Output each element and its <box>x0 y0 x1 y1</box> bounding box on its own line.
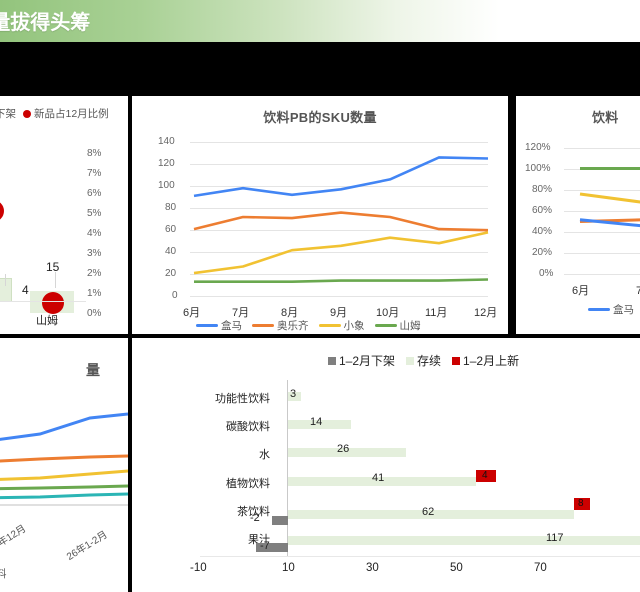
ytick-1pct: 1% <box>87 288 101 299</box>
ytick-4pct: 4% <box>87 228 101 239</box>
value-label-4: 4 <box>22 283 29 297</box>
series-1-line <box>0 414 128 442</box>
xtick-50: 50 <box>450 562 463 574</box>
green-bar-xiaoxiang <box>0 278 12 302</box>
zero-axis-line <box>287 380 288 556</box>
blue-line-icon <box>196 324 218 327</box>
legend-label: 奥乐齐 <box>277 318 309 333</box>
legend-label-carbonated: 碳酸饮料 <box>0 566 7 581</box>
series-3-line <box>0 471 128 484</box>
chart-legend-sku-count: 盒马 奥乐齐 小象 山姆 <box>196 318 421 333</box>
value-label-15: 15 <box>46 260 59 274</box>
bar-value-3: 41 <box>372 472 384 484</box>
red-square-icon <box>452 357 460 365</box>
legend-item-xiajia: 下架 <box>0 106 16 121</box>
panel-bottom-center[interactable]: 1–2月下架 存续 1–2月上新 功能性饮料 3 碳酸饮料 14 水 26 植物… <box>132 338 640 592</box>
series-hema-line <box>194 157 488 196</box>
legend-item-newsku: 1–2月上新 <box>452 352 519 369</box>
red-marker-dot <box>0 200 4 222</box>
bar-offshelf-value-4: -2 <box>250 512 260 524</box>
legend-label: 1–2月下架 <box>339 352 395 369</box>
xtick-70: 70 <box>534 562 547 574</box>
xtick-12yue: 12月 <box>474 304 497 320</box>
series-paths-bottom-left <box>0 338 128 592</box>
connector-line-2 <box>55 272 56 288</box>
xtick-right-6yue: 6月 <box>572 282 589 298</box>
legend-item-shanmu: 山姆 <box>375 318 421 333</box>
ytick-8pct: 8% <box>87 148 101 159</box>
cat-label-zhiwu: 植物饮料 <box>160 475 270 491</box>
legend-item-xiaoxiang: 小象 <box>319 318 365 333</box>
orange-line-icon <box>252 324 274 327</box>
ytick-0pct: 0% <box>87 308 101 319</box>
panel-top-center[interactable]: 饮料PB的SKU数量 140 120 100 80 60 40 20 0 <box>132 96 508 334</box>
lightgreen-square-icon <box>406 357 414 365</box>
series-shanmu-line <box>194 280 488 282</box>
top-left-legend: 下架 新品占12月比例 <box>0 106 109 121</box>
grey-square-icon <box>328 357 336 365</box>
bar-value-4: 62 <box>422 506 434 518</box>
xtick-right-7yue: 7月 <box>636 282 640 298</box>
chart-legend-right: 盒马 <box>588 302 640 317</box>
series-aoleqi-line <box>194 213 488 231</box>
legend-item-ratio: 新品占12月比例 <box>23 106 109 121</box>
cat-label-tansuan: 碳酸饮料 <box>170 418 270 434</box>
bar-new-value-3: 4 <box>482 470 488 481</box>
series-hema-pct <box>580 220 640 234</box>
bar-chart-legend: 1–2月下架 存续 1–2月上新 <box>328 352 519 369</box>
bar-offshelf-4 <box>272 516 288 525</box>
bar-new-value-4: 8 <box>578 498 584 509</box>
series-xiaoxiang-pct <box>580 194 640 203</box>
page-subtitle: 领先 <box>0 50 304 71</box>
series-carbonated-line <box>0 494 128 499</box>
legend-item-existing: 存续 <box>406 352 441 369</box>
ytick-7pct: 7% <box>87 168 101 179</box>
ytick-5pct: 5% <box>87 208 101 219</box>
legend-label: 新品占12月比例 <box>34 106 109 121</box>
panel-bottom-left[interactable]: 量 月 25年12月 26年1-2月 水 碳酸饮料 <box>0 338 128 592</box>
series-water-line <box>0 486 128 490</box>
green-line-icon <box>375 324 397 327</box>
cat-label-gongnengxing: 功能性饮料 <box>160 390 270 406</box>
baseline <box>0 301 86 302</box>
bottom-axis-line <box>200 556 640 557</box>
series-paths-right <box>516 96 640 334</box>
panel-top-left[interactable]: 下架 新品占12月比例 8% 7% 6% 5% 4% 3% 2% 1% 0% 6… <box>0 96 128 334</box>
bar-value-0: 3 <box>290 388 296 400</box>
legend-label: 盒马 <box>221 318 242 333</box>
screenshot-root: 新SKU数量拔得头筹 领先 下架 新品占12月比例 8% 7% 6% 5% 4%… <box>0 0 640 592</box>
xtick-neg10: -10 <box>190 562 207 574</box>
legend-label: 山姆 <box>400 318 421 333</box>
ytick-6pct: 6% <box>87 188 101 199</box>
legend-label: 盒马 <box>613 302 634 317</box>
yellow-line-icon <box>319 324 341 327</box>
panel-top-right[interactable]: 饮料 120% 100% 80% 60% 40% 20% 0% 6月 7月 盒马 <box>516 96 640 334</box>
blue-line-icon <box>588 308 610 311</box>
page-title: 新SKU数量拔得头筹 <box>0 6 328 35</box>
legend-item-hema: 盒马 <box>196 318 242 333</box>
legend-label: 小象 <box>344 318 365 333</box>
bar-existing-5 <box>288 536 640 545</box>
xtick-10: 10 <box>282 562 295 574</box>
line-chart-sku-count: 140 120 100 80 60 40 20 0 6月 7月 8月 9月 10… <box>132 96 508 334</box>
legend-item-offshelf: 1–2月下架 <box>328 352 395 369</box>
legend-label: 存续 <box>417 352 441 369</box>
chart-legend-bottom-left: 水 碳酸饮料 <box>0 566 7 581</box>
bar-value-5: 117 <box>546 532 564 544</box>
xlabel-shanmu: 山姆 <box>36 312 58 328</box>
series-xiaoxiang-line <box>194 232 488 273</box>
legend-label: 1–2月上新 <box>463 352 519 369</box>
bar-value-2: 26 <box>337 443 349 455</box>
ytick-3pct: 3% <box>87 248 101 259</box>
connector-line <box>5 274 6 286</box>
legend-item-aoleqi: 奥乐齐 <box>252 318 309 333</box>
legend-item-hema-right: 盒马 <box>588 302 634 317</box>
cat-label-shui: 水 <box>170 446 270 462</box>
xtick-11yue: 11月 <box>425 304 447 320</box>
series-paths <box>132 96 508 334</box>
bar-offshelf-value-5: -7 <box>260 540 270 552</box>
bar-value-1: 14 <box>310 416 322 428</box>
legend-label: 下架 <box>0 106 16 121</box>
xtick-30: 30 <box>366 562 379 574</box>
ytick-2pct: 2% <box>87 268 101 279</box>
red-dot-icon <box>23 110 31 118</box>
red-marker-dot-2 <box>42 292 64 314</box>
series-2-line <box>0 456 128 468</box>
